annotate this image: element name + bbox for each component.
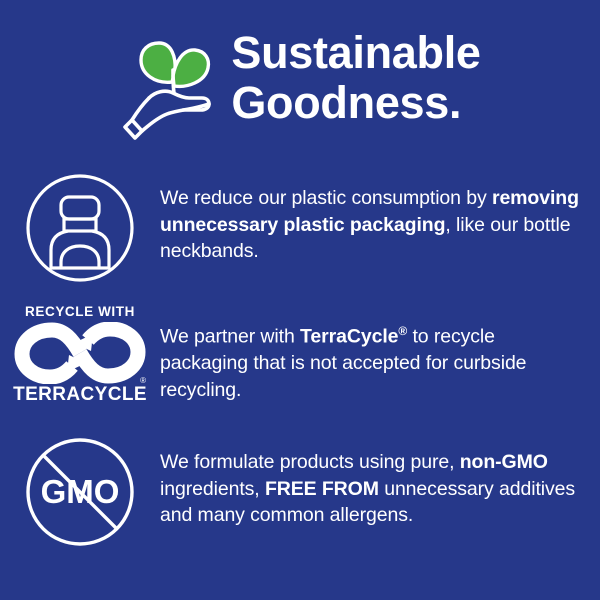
terracycle-top-label: RECYCLE WITH (10, 305, 150, 319)
feature-icon-wrapper: RECYCLE WITH ® TERRACYCLE (0, 305, 160, 405)
text-seg-bold: non-GMO (460, 451, 548, 473)
feature-text-plastic: We reduce our plastic consumption by rem… (160, 185, 600, 265)
no-gmo-label: GMO (41, 473, 120, 510)
sustainable-goodness-infographic: Sustainable Goodness. We reduce our pl (0, 0, 600, 600)
text-seg-bold: FREE FROM (265, 478, 379, 500)
text-seg-bold: TerraCycle (300, 326, 398, 348)
bottle-no-neckband-icon (24, 172, 136, 284)
page-title: Sustainable Goodness. (231, 26, 480, 128)
feature-row-plastic: We reduce our plastic consumption by rem… (0, 185, 600, 284)
text-seg-registered: ® (398, 324, 407, 338)
feature-text-terracycle: We partner with TerraCycle® to recycle p… (160, 318, 600, 403)
terracycle-infinity-icon: ® (10, 322, 150, 384)
text-seg: We reduce our plastic consumption by (160, 187, 492, 209)
hand-holding-sprout-icon (119, 36, 225, 140)
text-seg: We partner with (160, 326, 300, 348)
feature-icon-wrapper: GMO (0, 436, 160, 548)
text-seg: We formulate products using pure, (160, 451, 460, 473)
text-seg: ingredients, (160, 478, 265, 500)
no-gmo-icon: GMO (24, 436, 136, 548)
feature-icon-wrapper (0, 172, 160, 284)
feature-row-gmo: GMO We formulate products using pure, no… (0, 449, 600, 548)
registered-trademark-mark: ® (140, 377, 146, 385)
terracycle-logo-icon: RECYCLE WITH ® TERRACYCLE (10, 305, 150, 405)
feature-row-terracycle: RECYCLE WITH ® TERRACYCLE We partner wit… (0, 318, 600, 405)
feature-text-gmo: We formulate products using pure, non-GM… (160, 449, 600, 529)
terracycle-bottom-label: TERRACYCLE (10, 385, 150, 405)
header: Sustainable Goodness. (0, 26, 600, 140)
